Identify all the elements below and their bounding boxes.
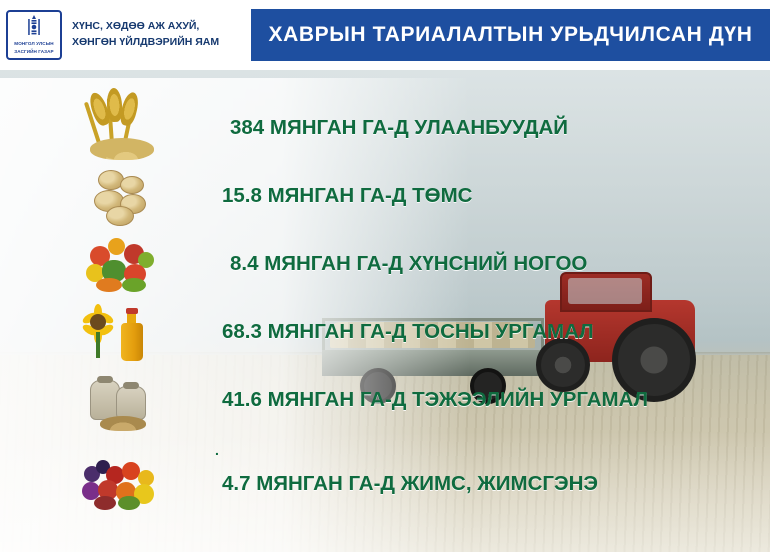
list-item: 384 МЯНГАН ГА-Д УЛААНБУУДАЙ [76, 94, 568, 162]
list-item: 8.4 МЯНГАН ГА-Д ХҮНСНИЙ НОГОО [76, 230, 587, 298]
page-header: МОНГОЛ УЛСЫН ЗАСГИЙН ГАЗАР ХҮНС, ХӨДӨӨ А… [0, 0, 770, 70]
soyombo-icon [27, 15, 41, 39]
emblem-line2: ЗАСГИЙН ГАЗАР [14, 49, 53, 55]
list-item: 15.8 МЯНГАН ГА-Д ТӨМС [76, 162, 472, 230]
vegetables-icon [76, 230, 172, 298]
list-item-label: 68.3 МЯНГАН ГА-Д ТОСНЫ УРГАМАЛ [172, 320, 594, 344]
ministry-line-2: ХӨНГӨН ҮЙЛДВЭРИЙН ЯАМ [72, 35, 247, 51]
emblem-line1: МОНГОЛ УЛСЫН [14, 41, 53, 47]
list-item-label: 41.6 МЯНГАН ГА-Д ТЭЖЭЭЛИЙН УРГАМАЛ [172, 388, 648, 412]
fruit-berry-icon [76, 450, 172, 518]
crop-list: 384 МЯНГАН ГА-Д УЛААНБУУДАЙ 15.8 МЯНГАН … [0, 72, 770, 552]
list-item: 68.3 МЯНГАН ГА-Д ТОСНЫ УРГАМАЛ [76, 298, 594, 366]
title-banner: ХАВРЫН ТАРИАЛАЛТЫН УРЬДЧИЛСАН ДҮН [251, 9, 770, 61]
trailing-dot: . [215, 442, 219, 458]
list-item-label: 4.7 МЯНГАН ГА-Д ЖИМС, ЖИМСГЭНЭ [172, 472, 598, 496]
potato-icon [76, 162, 172, 230]
page-title: ХАВРЫН ТАРИАЛАЛТЫН УРЬДЧИЛСАН ДҮН [269, 23, 753, 47]
list-item: 41.6 МЯНГАН ГА-Д ТЭЖЭЭЛИЙН УРГАМАЛ [76, 366, 648, 434]
list-item: 4.7 МЯНГАН ГА-Д ЖИМС, ЖИМСГЭНЭ [76, 450, 598, 518]
list-item-label: 8.4 МЯНГАН ГА-Д ХҮНСНИЙ НОГОО [172, 252, 587, 276]
ministry-line-1: ХҮНС, ХӨДӨӨ АЖ АХУЙ, [72, 19, 247, 35]
state-emblem-icon: МОНГОЛ УЛСЫН ЗАСГИЙН ГАЗАР [6, 10, 62, 60]
list-item-label: 15.8 МЯНГАН ГА-Д ТӨМС [172, 184, 472, 208]
list-item-label: 384 МЯНГАН ГА-Д УЛААНБУУДАЙ [172, 116, 568, 140]
ministry-name: ХҮНС, ХӨДӨӨ АЖ АХУЙ, ХӨНГӨН ҮЙЛДВЭРИЙН Я… [72, 19, 247, 51]
oil-plant-icon [76, 298, 172, 366]
fodder-sack-icon [76, 366, 172, 434]
wheat-grain-icon [76, 94, 172, 162]
